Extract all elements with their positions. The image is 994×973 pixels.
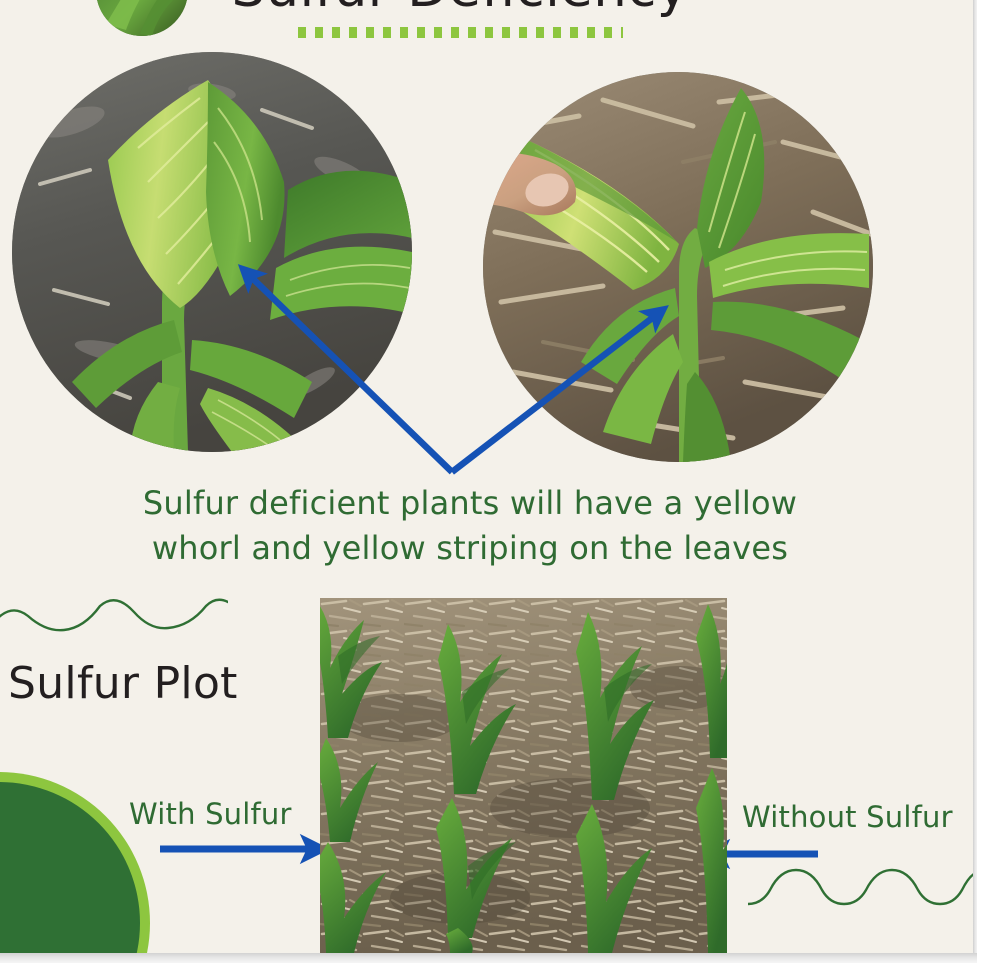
slide-edge-bottom [0,953,977,963]
section-heading: Sulfur Plot [8,658,238,709]
caption-block: Sulfur deficient plants will have a yell… [60,481,880,571]
corn-rows-photo [320,598,727,953]
title-block: Sulfur Deficiency [0,0,920,38]
outer-gutter-bottom [0,963,994,973]
outer-gutter-right [977,0,994,973]
slide-canvas: Sulfur Deficiency [0,0,973,953]
corn-plant-photo-left [12,52,412,452]
caption-line-2: whorl and yellow striping on the leaves [60,526,880,571]
wave-line-bottom-icon [748,862,973,910]
field-plot-photo [320,598,727,953]
wave-line-top-icon [0,598,228,643]
caption-line-1: Sulfur deficient plants will have a yell… [60,481,880,526]
label-without-sulfur: Without Sulfur [742,800,953,834]
photo-circle-left [12,52,412,452]
hand-holding-corn-leaf-photo [483,72,873,462]
green-circle-inner [0,782,140,953]
dashed-rule-icon [298,27,623,38]
label-with-sulfur: With Sulfur [129,797,292,831]
page-title: Sulfur Deficiency [0,0,920,15]
photo-circle-right [483,72,873,462]
green-circle-decoration [0,772,150,953]
